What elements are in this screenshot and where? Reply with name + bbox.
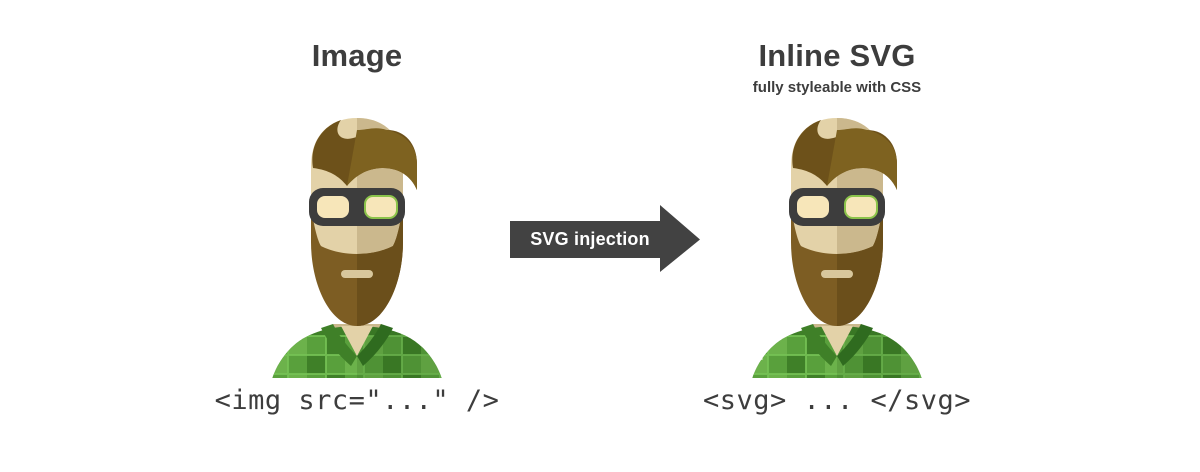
image-code-caption: <img src="..." /> bbox=[157, 385, 557, 417]
avatar-inline-svg bbox=[637, 110, 1037, 378]
inline-svg-panel-subtitle: fully styleable with CSS bbox=[637, 79, 1037, 97]
glasses-icon bbox=[309, 188, 405, 226]
avatar-illustration bbox=[739, 110, 935, 378]
inline-svg-code-caption: <svg> ... </svg> bbox=[637, 385, 1037, 417]
inline-svg-panel-title: Inline SVG bbox=[637, 39, 1037, 73]
avatar-illustration bbox=[259, 110, 455, 378]
illustration-canvas: Image bbox=[0, 0, 1200, 472]
inline-svg-panel: Inline SVG fully styleable with CSS bbox=[637, 0, 1037, 472]
avatar-image bbox=[157, 110, 557, 378]
image-panel-title: Image bbox=[157, 39, 557, 73]
glasses-icon bbox=[789, 188, 885, 226]
image-panel: Image bbox=[157, 0, 557, 472]
